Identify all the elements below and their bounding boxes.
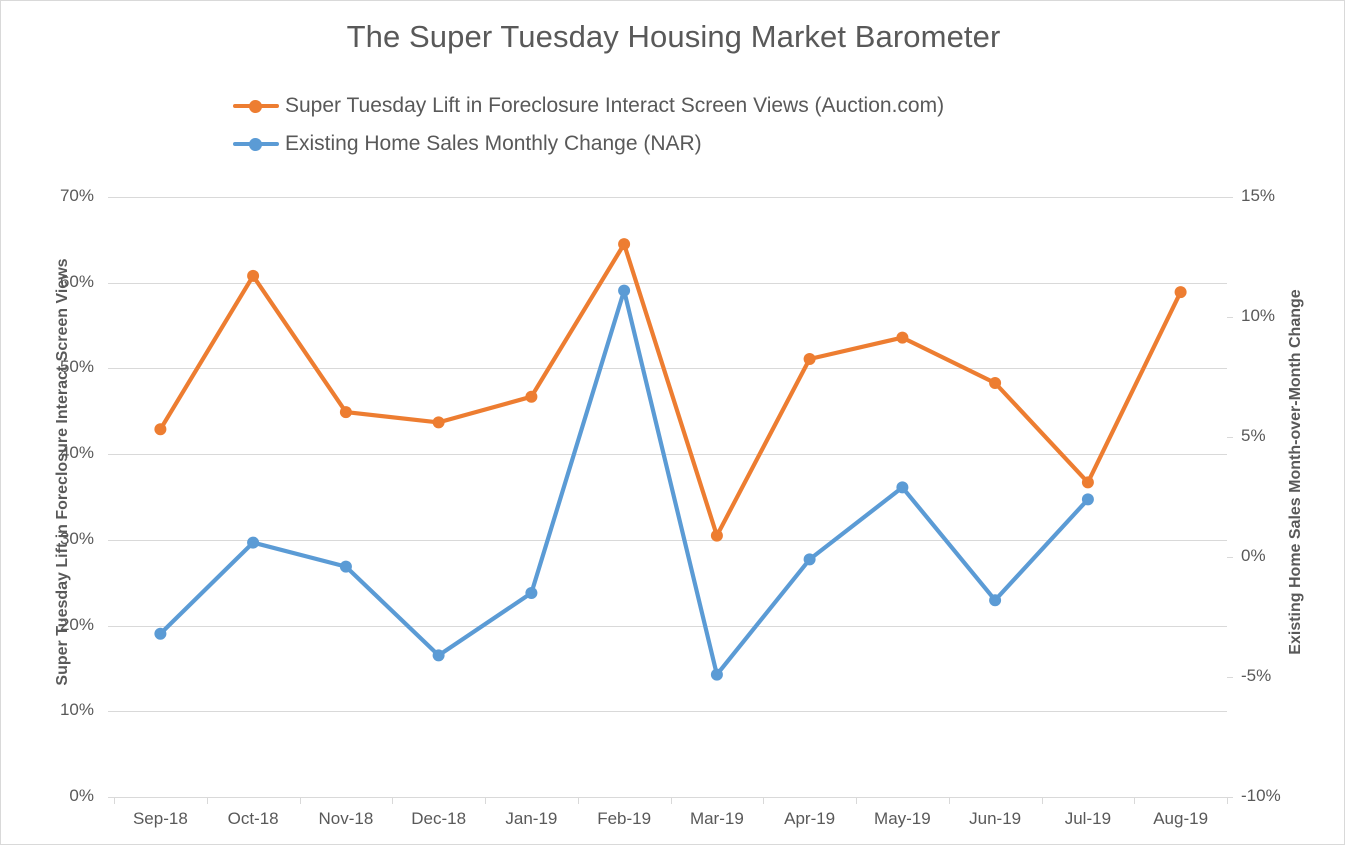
x-tick-mark (1227, 797, 1228, 804)
x-tick-label: Jul-19 (1042, 809, 1135, 829)
left-tick-mark (108, 454, 114, 455)
legend-line-marker-icon (233, 96, 279, 116)
left-tick-mark (108, 797, 114, 798)
x-tick-label: Apr-19 (763, 809, 856, 829)
left-tick-label: 0% (69, 786, 94, 806)
x-tick-label: Jun-19 (949, 809, 1042, 829)
gridline (114, 540, 1227, 541)
legend-label-foreclosure-views: Super Tuesday Lift in Foreclosure Intera… (285, 94, 944, 118)
left-tick-label: 70% (60, 186, 94, 206)
right-tick-mark (1227, 677, 1233, 678)
gridline (114, 197, 1227, 198)
left-tick-mark (108, 283, 114, 284)
chart-container: The Super Tuesday Housing Market Baromet… (0, 0, 1345, 845)
left-tick-mark (108, 540, 114, 541)
right-tick-mark (1227, 317, 1233, 318)
legend-line-marker-icon (233, 134, 279, 154)
right-tick-mark (1227, 197, 1233, 198)
left-tick-mark (108, 368, 114, 369)
x-tick-mark (578, 797, 579, 804)
x-tick-label: Oct-18 (207, 809, 300, 829)
right-tick-label: 15% (1241, 186, 1275, 206)
right-tick-mark (1227, 557, 1233, 558)
gridline (114, 454, 1227, 455)
left-tick-label: 50% (60, 357, 94, 377)
right-tick-mark (1227, 797, 1233, 798)
right-tick-label: -5% (1241, 666, 1271, 686)
x-tick-mark (856, 797, 857, 804)
right-tick-label: 5% (1241, 426, 1266, 446)
x-tick-mark (114, 797, 115, 804)
left-tick-mark (108, 711, 114, 712)
x-tick-label: Dec-18 (392, 809, 485, 829)
x-tick-mark (392, 797, 393, 804)
right-tick-mark (1227, 437, 1233, 438)
left-tick-label: 30% (60, 529, 94, 549)
right-tick-label: 10% (1241, 306, 1275, 326)
x-tick-mark (207, 797, 208, 804)
x-tick-label: Feb-19 (578, 809, 671, 829)
x-tick-label: Mar-19 (671, 809, 764, 829)
x-tick-label: Jan-19 (485, 809, 578, 829)
left-tick-label: 10% (60, 700, 94, 720)
gridline (114, 283, 1227, 284)
legend-item-home-sales[interactable]: Existing Home Sales Monthly Change (NAR) (233, 125, 1183, 163)
gridlines (114, 197, 1227, 797)
x-tick-label: Sep-18 (114, 809, 207, 829)
x-tick-mark (1042, 797, 1043, 804)
x-tick-mark (949, 797, 950, 804)
left-tick-mark (108, 626, 114, 627)
x-tick-mark (671, 797, 672, 804)
gridline (114, 368, 1227, 369)
gridline (114, 711, 1227, 712)
left-tick-label: 60% (60, 272, 94, 292)
x-tick-label: Nov-18 (300, 809, 393, 829)
legend-item-foreclosure-views[interactable]: Super Tuesday Lift in Foreclosure Intera… (233, 87, 1183, 125)
right-tick-label: -10% (1241, 786, 1281, 806)
x-tick-mark (763, 797, 764, 804)
chart-legend: Super Tuesday Lift in Foreclosure Intera… (233, 87, 1183, 163)
x-tick-mark (300, 797, 301, 804)
left-tick-mark (108, 197, 114, 198)
x-tick-label: Aug-19 (1134, 809, 1227, 829)
x-tick-mark (1134, 797, 1135, 804)
left-tick-label: 40% (60, 443, 94, 463)
chart-title: The Super Tuesday Housing Market Baromet… (1, 19, 1345, 55)
right-tick-label: 0% (1241, 546, 1266, 566)
left-axis-title: Super Tuesday Lift in Foreclosure Intera… (54, 162, 72, 782)
x-tick-label: May-19 (856, 809, 949, 829)
x-tick-mark (485, 797, 486, 804)
left-tick-label: 20% (60, 615, 94, 635)
gridline (114, 626, 1227, 627)
legend-label-home-sales: Existing Home Sales Monthly Change (NAR) (285, 132, 702, 156)
right-axis-title: Existing Home Sales Month-over-Month Cha… (1287, 162, 1305, 782)
